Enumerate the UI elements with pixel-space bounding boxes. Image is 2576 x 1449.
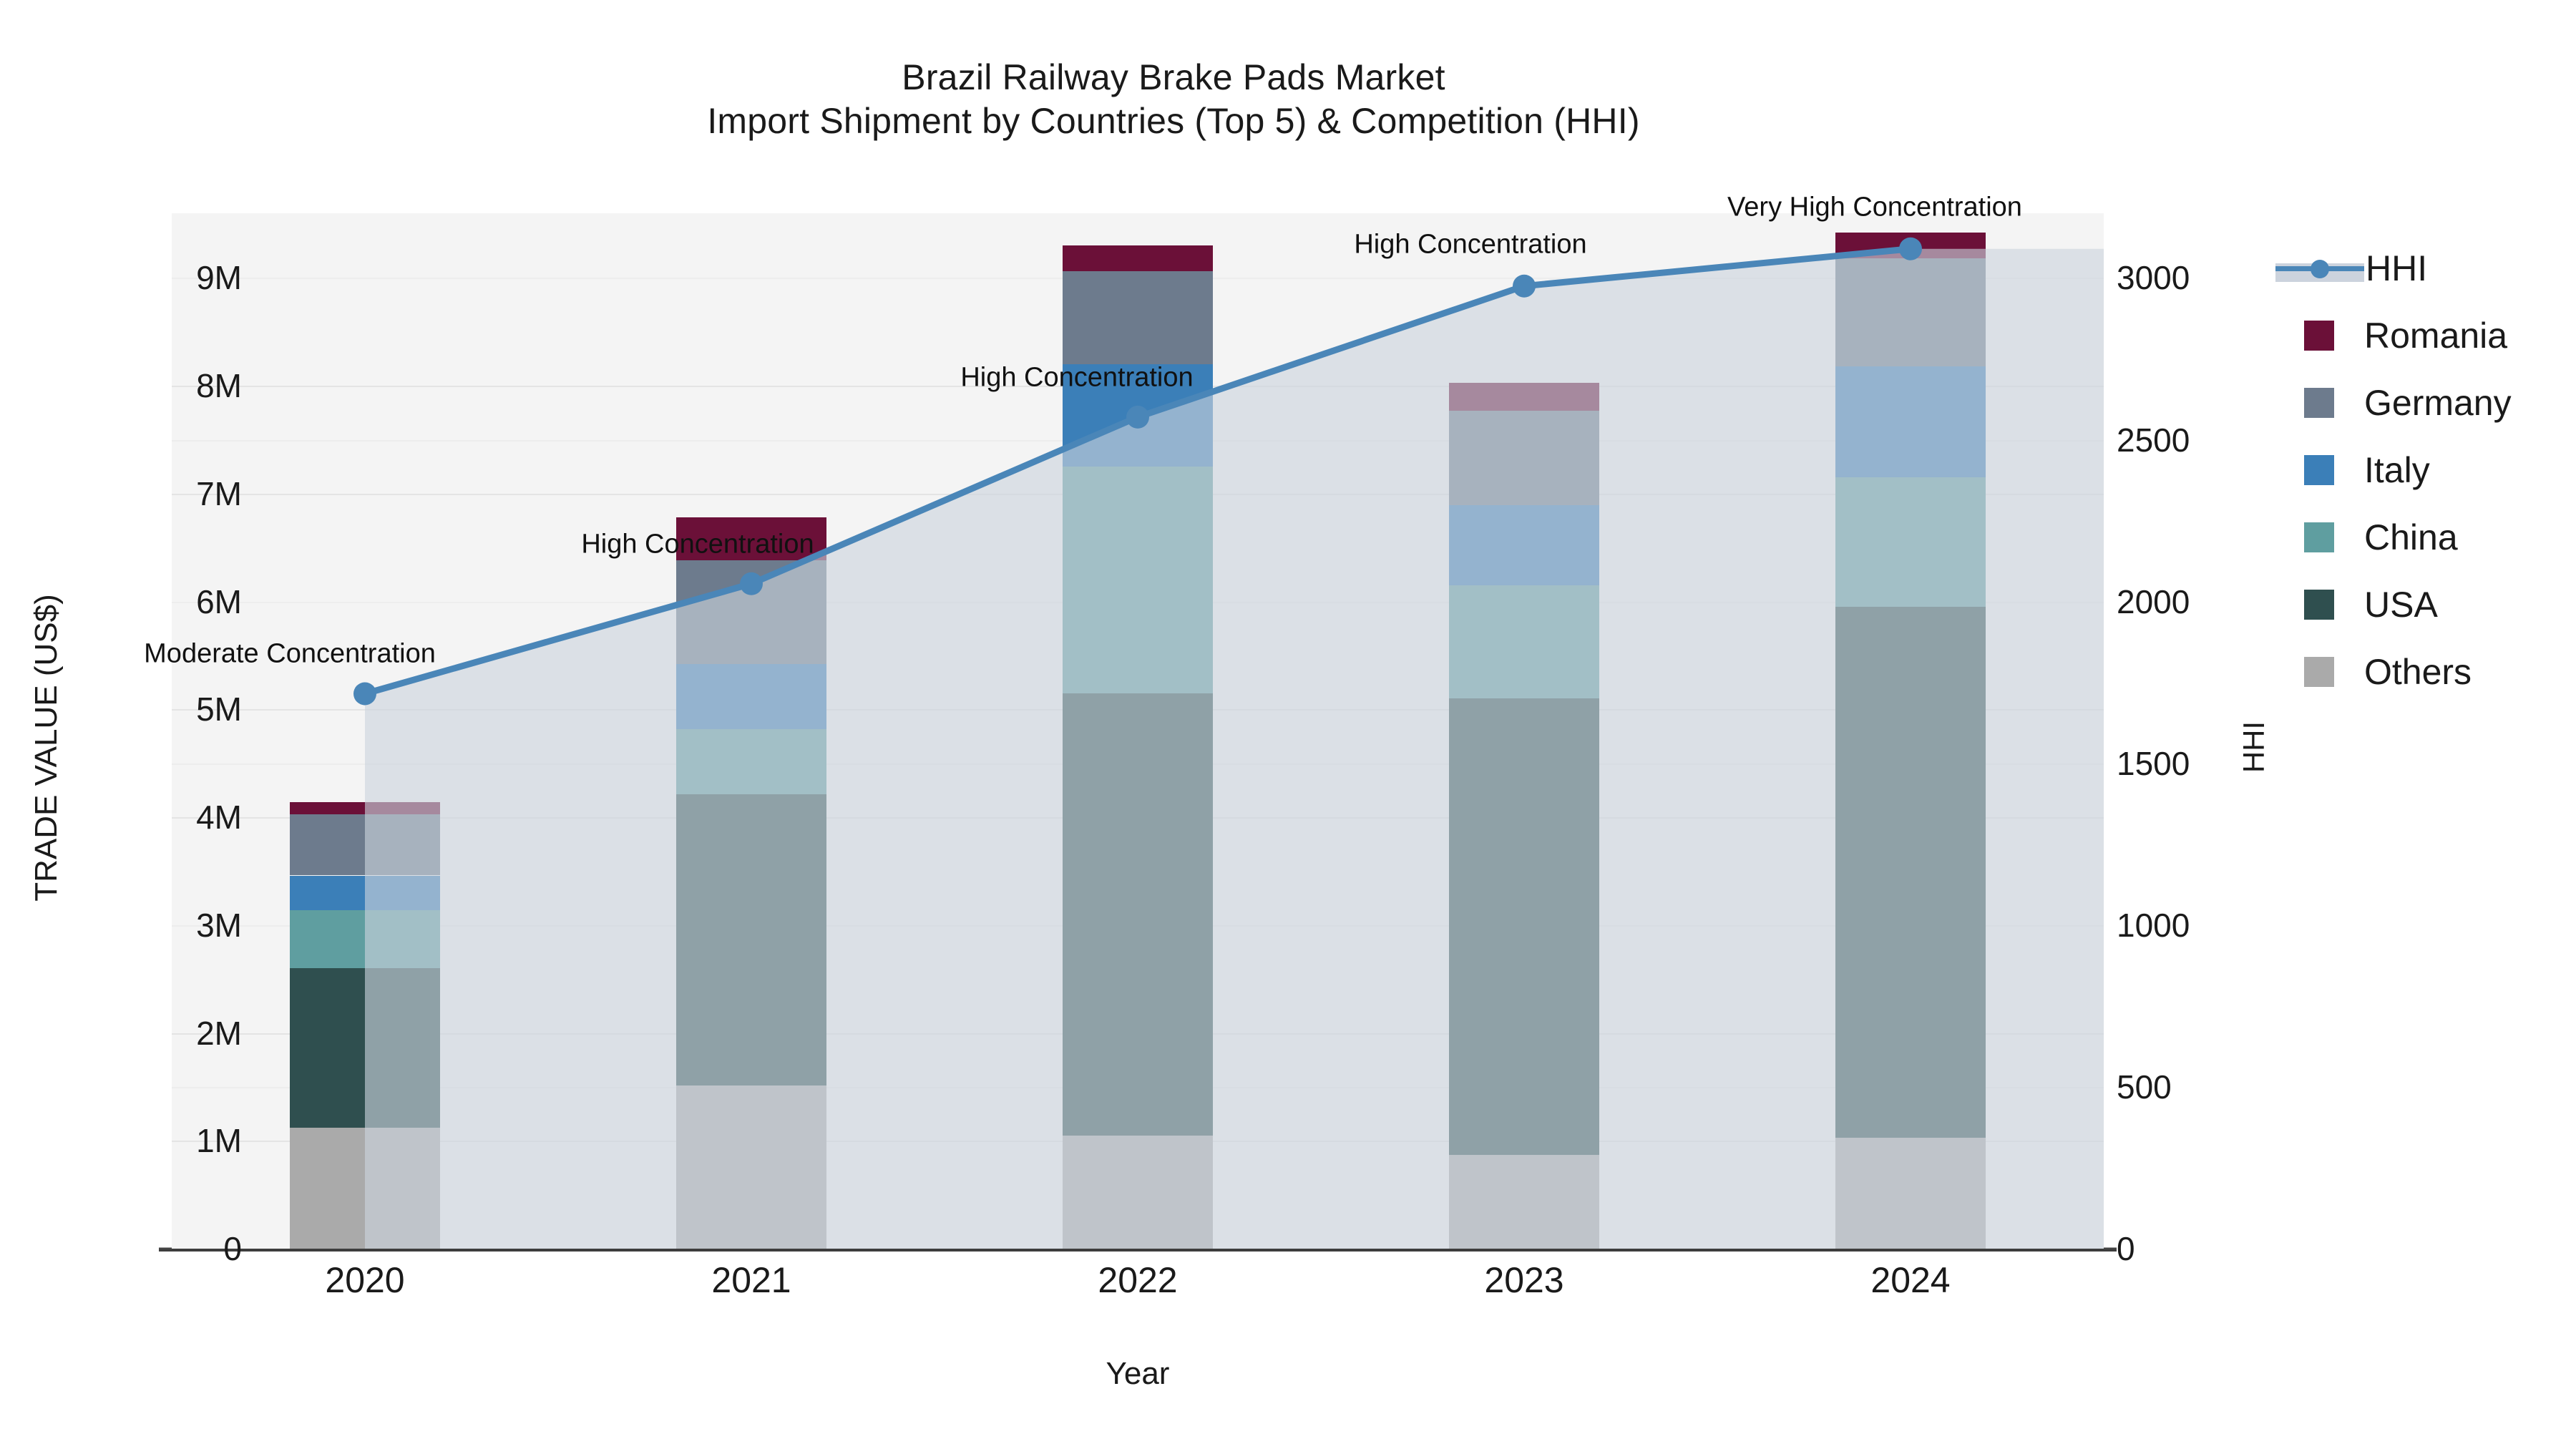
y-tick-label-right: 3000 [2117, 258, 2190, 297]
legend-item-hhi[interactable]: HHI [2275, 235, 2576, 302]
y-tick-label-left: 3M [196, 906, 242, 945]
chart-title: Brazil Railway Brake Pads Market Import … [0, 56, 2347, 143]
y-tick-label-right: 2000 [2117, 582, 2190, 621]
y-tick-label-right: 1000 [2117, 906, 2190, 945]
x-tick-label-2020: 2020 [325, 1259, 404, 1301]
legend-label: Italy [2364, 452, 2430, 488]
annotation-2022: High Concentration [960, 362, 1193, 393]
annotation-2023: High Concentration [1354, 229, 1586, 260]
x-tick-label-2023: 2023 [1484, 1259, 1563, 1301]
y-tick-label-right: 0 [2117, 1229, 2135, 1268]
legend-line-icon [2275, 253, 2364, 283]
y-tick-label-right: 2500 [2117, 421, 2190, 459]
x-tick-label-2022: 2022 [1098, 1259, 1177, 1301]
y-tick-mark-right [2104, 1248, 2117, 1250]
legend-label: Romania [2364, 318, 2507, 353]
legend-item-germany[interactable]: Germany [2275, 369, 2576, 436]
y-tick-label-left: 2M [196, 1014, 242, 1053]
annotation-2020: Moderate Concentration [144, 639, 436, 670]
legend-swatch-italy [2304, 455, 2334, 485]
legend-label: China [2364, 519, 2458, 555]
legend-swatch-romania [2304, 321, 2334, 351]
legend-label: USA [2364, 587, 2438, 623]
y-axis-label-left: TRADE VALUE (US$) [29, 519, 64, 977]
y-tick-label-left: 6M [196, 582, 242, 621]
y-tick-label-left: 9M [196, 258, 242, 297]
legend-label: Germany [2364, 385, 2512, 421]
x-axis-line [159, 1249, 2117, 1252]
y-tick-label-left: 0 [223, 1229, 242, 1268]
x-tick-label-2021: 2021 [711, 1259, 791, 1301]
annotation-2021: High Concentration [581, 529, 814, 560]
chart-legend: HHIRomaniaGermanyItalyChinaUSAOthers [2275, 235, 2576, 706]
legend-item-others[interactable]: Others [2275, 638, 2576, 706]
plot-area: Moderate ConcentrationHigh Concentration… [172, 213, 2104, 1249]
annotations-layer: Moderate ConcentrationHigh Concentration… [172, 213, 2104, 1249]
legend-line-marker [2311, 260, 2329, 278]
annotation-2024: Very High Concentration [1727, 192, 2022, 223]
legend-item-italy[interactable]: Italy [2275, 436, 2576, 504]
legend-label: HHI [2366, 250, 2427, 286]
x-tick-label-2024: 2024 [1870, 1259, 1950, 1301]
legend-label: Others [2364, 654, 2472, 690]
y-tick-label-left: 5M [196, 690, 242, 728]
y-tick-mark-left [159, 1248, 172, 1250]
y-tick-label-left: 8M [196, 366, 242, 405]
legend-swatch-germany [2304, 388, 2334, 418]
y-axis-label-right: HHI [2237, 640, 2271, 854]
y-tick-label-right: 500 [2117, 1068, 2172, 1106]
legend-item-china[interactable]: China [2275, 504, 2576, 571]
legend-swatch-china [2304, 522, 2334, 552]
y-tick-label-left: 1M [196, 1121, 242, 1160]
legend-swatch-others [2304, 657, 2334, 687]
legend-item-romania[interactable]: Romania [2275, 302, 2576, 369]
y-tick-label-left: 7M [196, 474, 242, 513]
y-tick-label-right: 1500 [2117, 744, 2190, 783]
legend-swatch-usa [2304, 590, 2334, 620]
y-tick-label-left: 4M [196, 798, 242, 836]
x-axis-label: Year [172, 1356, 2104, 1392]
legend-item-usa[interactable]: USA [2275, 571, 2576, 638]
